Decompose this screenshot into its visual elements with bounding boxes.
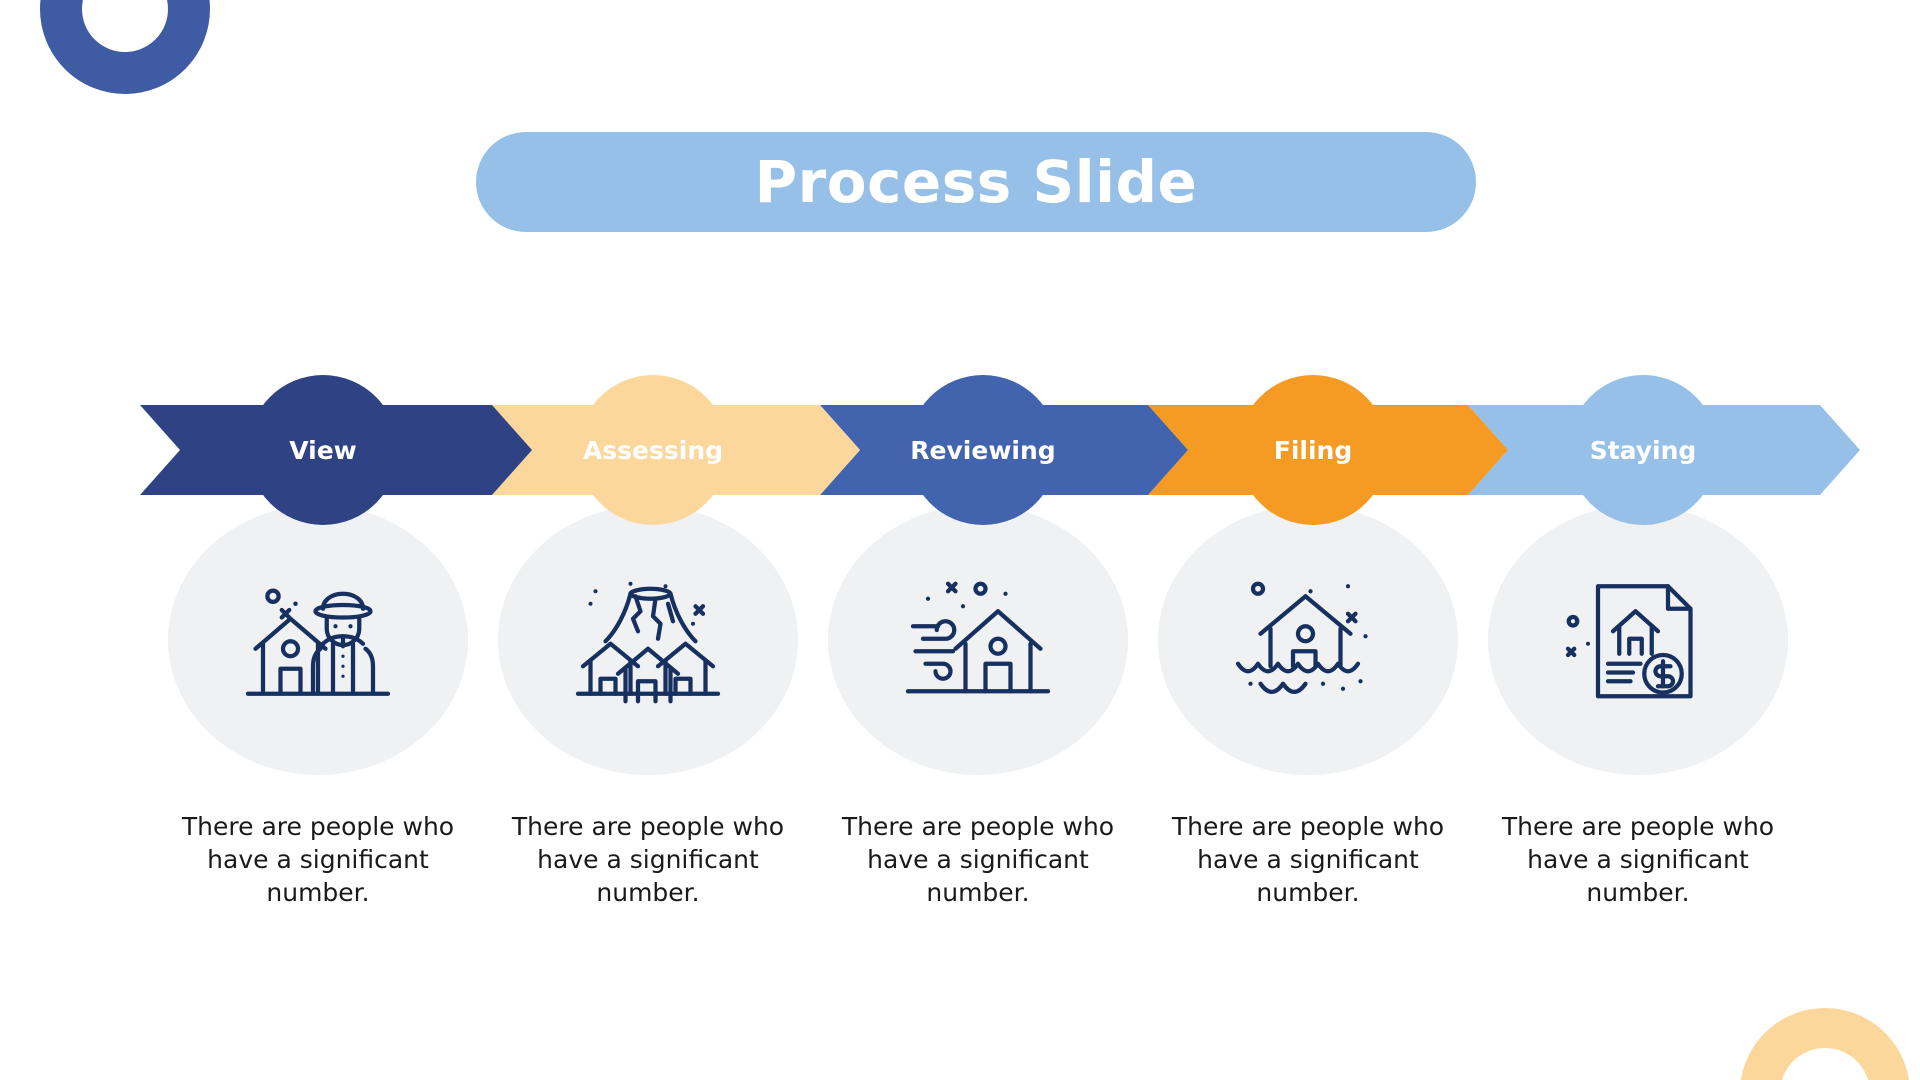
icon-backdrop-staying <box>1488 505 1788 775</box>
step-label-reviewing: Reviewing <box>910 436 1055 465</box>
step-label-view: View <box>289 436 357 465</box>
flood-house-icon <box>1233 570 1383 710</box>
step-circle-filing[interactable]: Filing <box>1238 375 1388 525</box>
step-circle-reviewing[interactable]: Reviewing <box>908 375 1058 525</box>
step-caption-filing: There are people who have a significant … <box>1158 810 1458 909</box>
icon-backdrop-filing <box>1158 505 1458 775</box>
step-circle-assessing[interactable]: Assessing <box>578 375 728 525</box>
decorative-ring-top-left <box>40 0 210 94</box>
icon-backdrop-view <box>168 505 468 775</box>
step-caption-reviewing: There are people who have a significant … <box>828 810 1128 909</box>
process-slide: Process Slide ViewAssessingReviewingFili… <box>0 0 1920 1080</box>
icon-backdrop-assessing <box>498 505 798 775</box>
inspector-house-icon <box>243 570 393 710</box>
volcano-houses-icon <box>573 570 723 710</box>
step-label-assessing: Assessing <box>583 436 723 465</box>
windstorm-house-icon <box>903 570 1053 710</box>
insurance-document-icon <box>1563 570 1713 710</box>
step-label-filing: Filing <box>1274 436 1352 465</box>
step-circle-view[interactable]: View <box>248 375 398 525</box>
step-caption-view: There are people who have a significant … <box>168 810 468 909</box>
step-caption-assessing: There are people who have a significant … <box>498 810 798 909</box>
icon-backdrop-reviewing <box>828 505 1128 775</box>
page-title: Process Slide <box>755 153 1198 211</box>
step-caption-staying: There are people who have a significant … <box>1488 810 1788 909</box>
step-circle-staying[interactable]: Staying <box>1568 375 1718 525</box>
step-label-staying: Staying <box>1590 436 1697 465</box>
decorative-ring-bottom-right <box>1740 1008 1910 1080</box>
title-pill: Process Slide <box>476 132 1476 232</box>
